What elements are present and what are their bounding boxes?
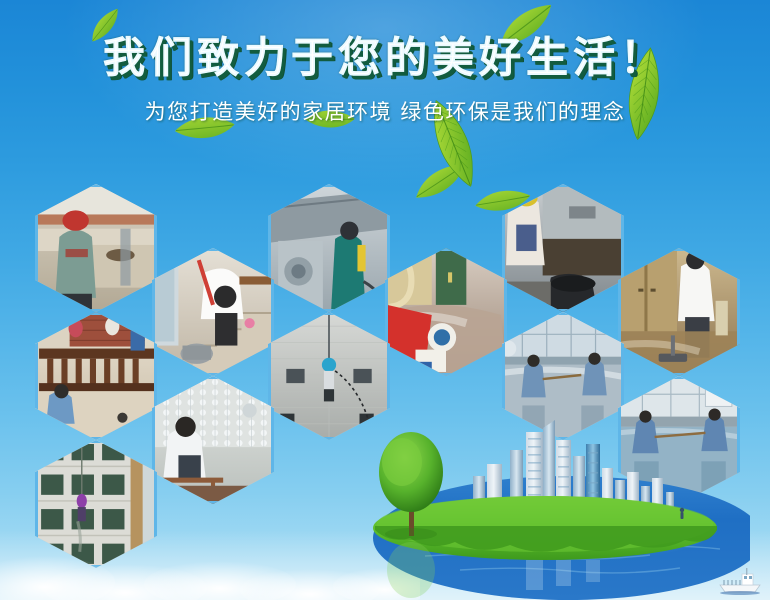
hexagon-frame [385,248,507,376]
boat-icon [716,565,764,595]
hexagon-photo [618,248,740,376]
hexagon-frame [502,184,624,312]
hexagon-frame [618,248,740,376]
page-subtitle: 为您打造美好的家居环境 绿色环保是我们的理念 [145,96,626,126]
hexagon-frame [268,184,390,312]
hex-tile-duct-cleaning[interactable] [268,184,390,312]
hexagon-photo [152,248,274,376]
hexagon-frame [152,248,274,376]
page-title: 我们致力于您的美好生活！ [103,36,667,80]
subheadline-block: 为您打造美好的家居环境 绿色环保是我们的理念 [0,96,770,126]
hex-tile-floor-polish[interactable] [618,248,740,376]
hexagon-frame [35,184,157,312]
hexagon-photo [385,248,507,376]
headline-block: 我们致力于您的美好生活！ [0,36,770,80]
hexagon-photo [268,184,390,312]
hexagon-photo [502,184,624,312]
hexagon-photo [152,376,274,504]
hexagon-frame [152,376,274,504]
hexagon-photo [35,312,157,440]
hexagon-frame [35,440,157,568]
hexagon-frame [35,312,157,440]
hexagon-photo [35,440,157,568]
hex-tile-kitchen-degrease[interactable] [502,184,624,312]
hex-tile-carpet-machine[interactable] [385,248,507,376]
eco-city-island [330,410,750,600]
hex-tile-ceiling-crystal[interactable] [152,376,274,504]
hex-tile-highrise-drop[interactable] [35,440,157,568]
hex-tile-stair-mopping[interactable] [152,248,274,376]
hexagon-photo [35,184,157,312]
leaf-mid-right-icon [410,161,470,200]
hex-tile-renovation-worker[interactable] [35,184,157,312]
banner-stage: 我们致力于您的美好生活！ 为您打造美好的家居环境 绿色环保是我们的理念 [0,0,770,600]
hex-tile-handrail-painting[interactable] [35,312,157,440]
